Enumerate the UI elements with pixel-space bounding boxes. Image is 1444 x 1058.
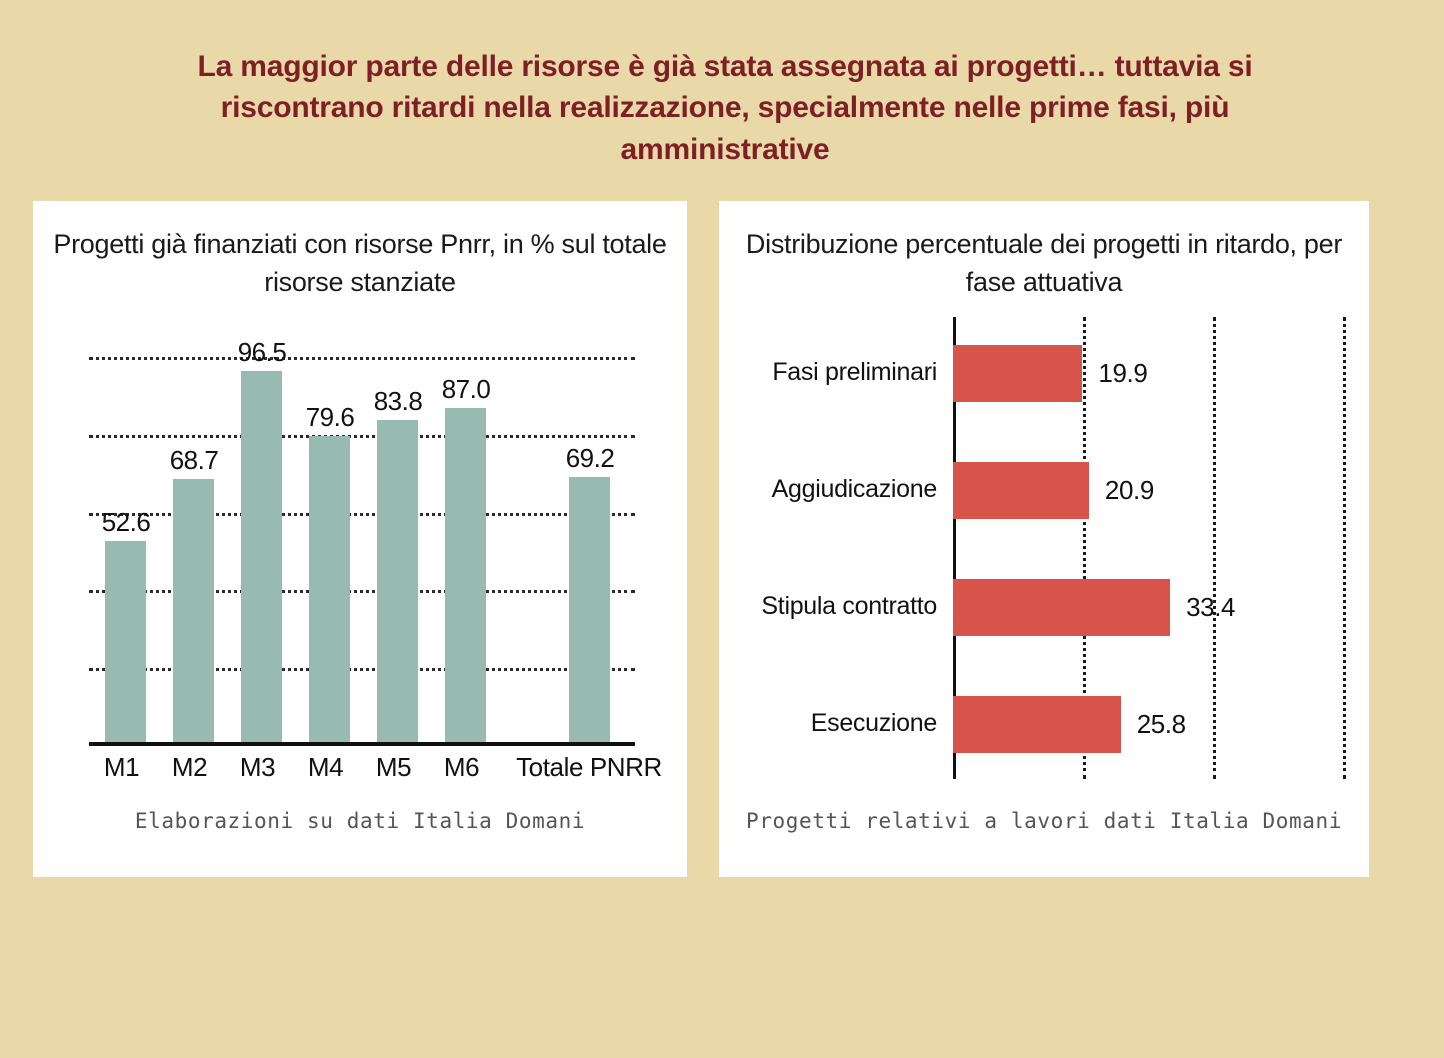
bar-m5 bbox=[377, 420, 418, 746]
chart-source-note-left: Elaborazioni su dati Italia Domani bbox=[33, 807, 687, 835]
bar-value-aggiudicazione: 20.9 bbox=[1105, 475, 1154, 506]
bar-m2 bbox=[173, 479, 214, 746]
bar-stipula-contratto: Stipula contratto 33.4 bbox=[953, 579, 1170, 636]
gridline-80 bbox=[89, 435, 635, 438]
y-tick-esecuzione: Esecuzione bbox=[811, 709, 937, 738]
bar-value-stipula-contratto: 33.4 bbox=[1186, 592, 1235, 623]
bar-value-esecuzione: 25.8 bbox=[1137, 709, 1186, 740]
bar-value-m3: 96.5 bbox=[217, 337, 307, 368]
gridline-40 bbox=[89, 590, 635, 593]
page-title: La maggior parte delle risorse è già sta… bbox=[120, 46, 1330, 170]
bar-value-totale: 69.2 bbox=[545, 443, 635, 474]
x-tick-m6: M6 bbox=[421, 752, 502, 783]
bar-chart-horizontal: Fasi preliminari 19.9 Aggiudicazione 20.… bbox=[953, 317, 1349, 779]
bar-fasi-preliminari: Fasi preliminari 19.9 bbox=[953, 345, 1082, 402]
bar-m1 bbox=[105, 541, 146, 746]
gridline-60 bbox=[1343, 317, 1346, 779]
bar-m4 bbox=[309, 436, 350, 746]
chart-panel-right: Distribuzione percentuale dei progetti i… bbox=[719, 201, 1369, 877]
bar-value-m2: 68.7 bbox=[149, 445, 239, 476]
bar-value-fasi-preliminari: 19.9 bbox=[1098, 358, 1147, 389]
bar-totale bbox=[569, 477, 610, 746]
bar-m3 bbox=[241, 371, 282, 746]
bar-aggiudicazione: Aggiudicazione 20.9 bbox=[953, 462, 1089, 519]
bar-m6 bbox=[445, 408, 486, 746]
bar-esecuzione: Esecuzione 25.8 bbox=[953, 696, 1121, 753]
chart-source-note-right: Progetti relativi a lavori dati Italia D… bbox=[719, 807, 1369, 835]
x-tick-totale: Totale PNRR bbox=[509, 752, 669, 783]
gridline-40 bbox=[1213, 317, 1216, 779]
x-axis-line bbox=[89, 742, 635, 746]
bar-value-m1: 52.6 bbox=[81, 507, 171, 538]
bar-value-m6: 87.0 bbox=[421, 374, 511, 405]
chart-title-left: Progetti già finanziati con risorse Pnrr… bbox=[33, 225, 687, 302]
chart-title-right: Distribuzione percentuale dei progetti i… bbox=[719, 225, 1369, 302]
bar-chart-vertical: 52.6 68.7 96.5 79.6 83.8 87.0 69.2 M1 M2… bbox=[89, 357, 635, 746]
chart-panel-left: Progetti già finanziati con risorse Pnrr… bbox=[33, 201, 687, 877]
y-tick-fasi-preliminari: Fasi preliminari bbox=[772, 358, 937, 387]
y-tick-aggiudicazione: Aggiudicazione bbox=[772, 475, 937, 504]
gridline-20 bbox=[89, 668, 635, 671]
gridline-100 bbox=[89, 357, 635, 360]
y-tick-stipula-contratto: Stipula contratto bbox=[761, 592, 937, 621]
